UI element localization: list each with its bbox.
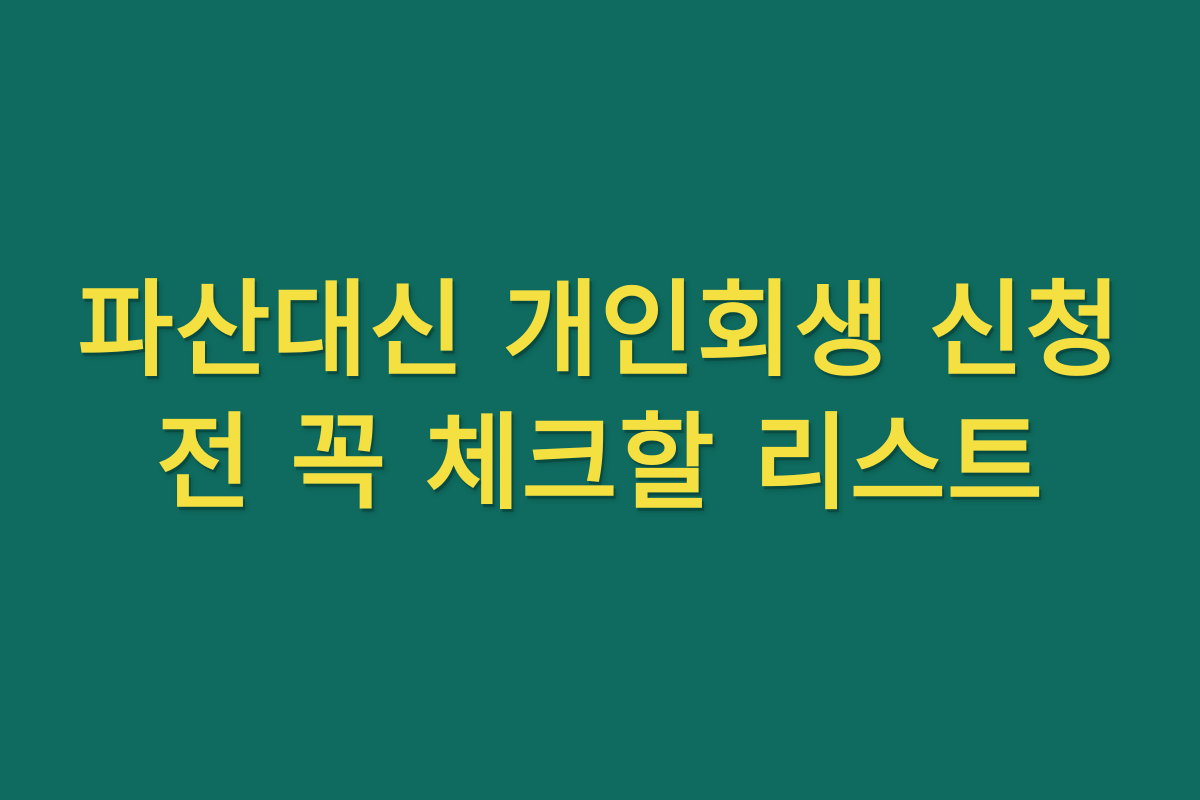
thumbnail-banner: 파산대신 개인회생 신청 전 꼭 체크할 리스트 — [0, 0, 1200, 800]
headline-line-1: 파산대신 개인회생 신청 — [40, 264, 1160, 397]
headline-line-2: 전 꼭 체크할 리스트 — [40, 397, 1160, 530]
headline-block: 파산대신 개인회생 신청 전 꼭 체크할 리스트 — [0, 264, 1200, 530]
